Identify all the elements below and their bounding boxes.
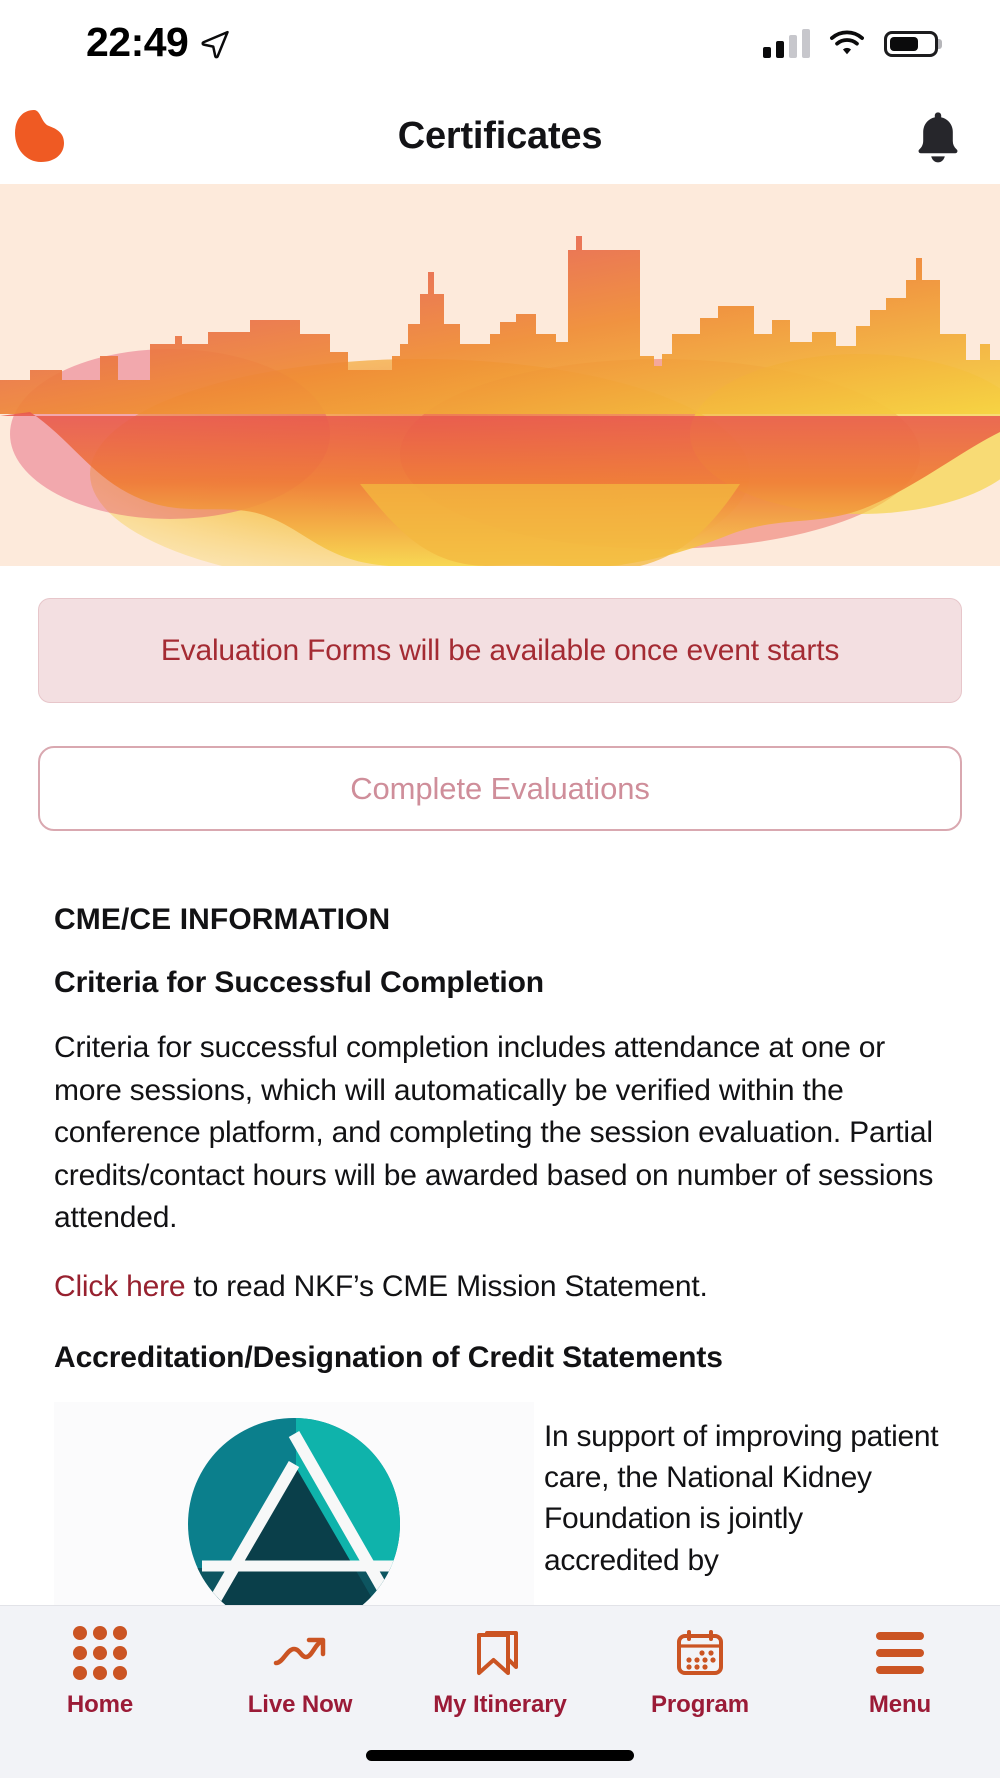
tab-program[interactable]: Program	[600, 1628, 800, 1719]
joint-accreditation-logo-icon	[184, 1416, 404, 1632]
cellular-signal-icon	[763, 30, 810, 58]
home-indicator	[0, 1732, 1000, 1778]
battery-icon	[884, 31, 938, 57]
status-time: 22:49	[86, 22, 188, 67]
criteria-body-text: Criteria for successful completion inclu…	[38, 1027, 962, 1240]
tab-live-now[interactable]: Live Now	[200, 1628, 400, 1719]
hero-banner-skyline	[0, 184, 1000, 566]
accreditation-row: In support of improving patient care, th…	[38, 1402, 962, 1632]
page-title: Certificates	[398, 115, 603, 158]
cme-section-title: CME/CE INFORMATION	[38, 903, 962, 937]
tab-menu[interactable]: Menu	[800, 1628, 1000, 1719]
main-content: Evaluation Forms will be available once …	[0, 598, 1000, 1632]
app-header: Certificates	[0, 88, 1000, 184]
calendar-icon	[672, 1628, 728, 1678]
alert-message: Evaluation Forms will be available once …	[161, 634, 839, 668]
tab-items: Home Live Now My Itinerary	[0, 1606, 1000, 1732]
status-bar: 22:49	[0, 0, 1000, 88]
status-bar-left: 22:49	[86, 22, 230, 67]
tab-home-label: Home	[67, 1691, 133, 1719]
grid-dots-icon	[72, 1628, 128, 1678]
accreditation-heading: Accreditation/Designation of Credit Stat…	[38, 1341, 962, 1375]
trending-up-arrow-icon	[272, 1628, 328, 1678]
cme-ce-information-section: CME/CE INFORMATION Criteria for Successf…	[38, 831, 962, 1632]
tab-program-label: Program	[651, 1691, 749, 1719]
cme-mission-line: Click here to read NKF’s CME Mission Sta…	[38, 1266, 962, 1309]
location-arrow-icon	[200, 29, 230, 59]
nkf-kidney-logo-icon[interactable]	[14, 104, 88, 168]
complete-evaluations-button[interactable]: Complete Evaluations	[38, 746, 962, 831]
bottom-tab-bar: Home Live Now My Itinerary	[0, 1605, 1000, 1778]
complete-evaluations-label: Complete Evaluations	[350, 771, 650, 807]
tab-my-itinerary-label: My Itinerary	[433, 1691, 567, 1719]
skyline-illustration	[0, 184, 1000, 566]
tab-menu-label: Menu	[869, 1691, 931, 1719]
criteria-heading: Criteria for Successful Completion	[38, 966, 962, 1000]
status-bar-right	[763, 30, 938, 58]
bell-icon[interactable]	[912, 108, 964, 164]
accreditation-logo-container	[54, 1402, 534, 1632]
home-indicator-bar[interactable]	[366, 1750, 634, 1761]
bookmark-icon	[472, 1628, 528, 1678]
evaluation-availability-banner: Evaluation Forms will be available once …	[38, 598, 962, 703]
click-here-link[interactable]: Click here	[54, 1270, 185, 1303]
wifi-icon	[828, 30, 866, 58]
tab-my-itinerary[interactable]: My Itinerary	[400, 1628, 600, 1719]
accreditation-body-text: In support of improving patient care, th…	[544, 1402, 946, 1582]
hamburger-menu-icon	[872, 1628, 928, 1678]
tab-home[interactable]: Home	[0, 1628, 200, 1719]
tab-live-now-label: Live Now	[248, 1691, 353, 1719]
cme-mission-rest: to read NKF’s CME Mission Statement.	[185, 1270, 707, 1303]
